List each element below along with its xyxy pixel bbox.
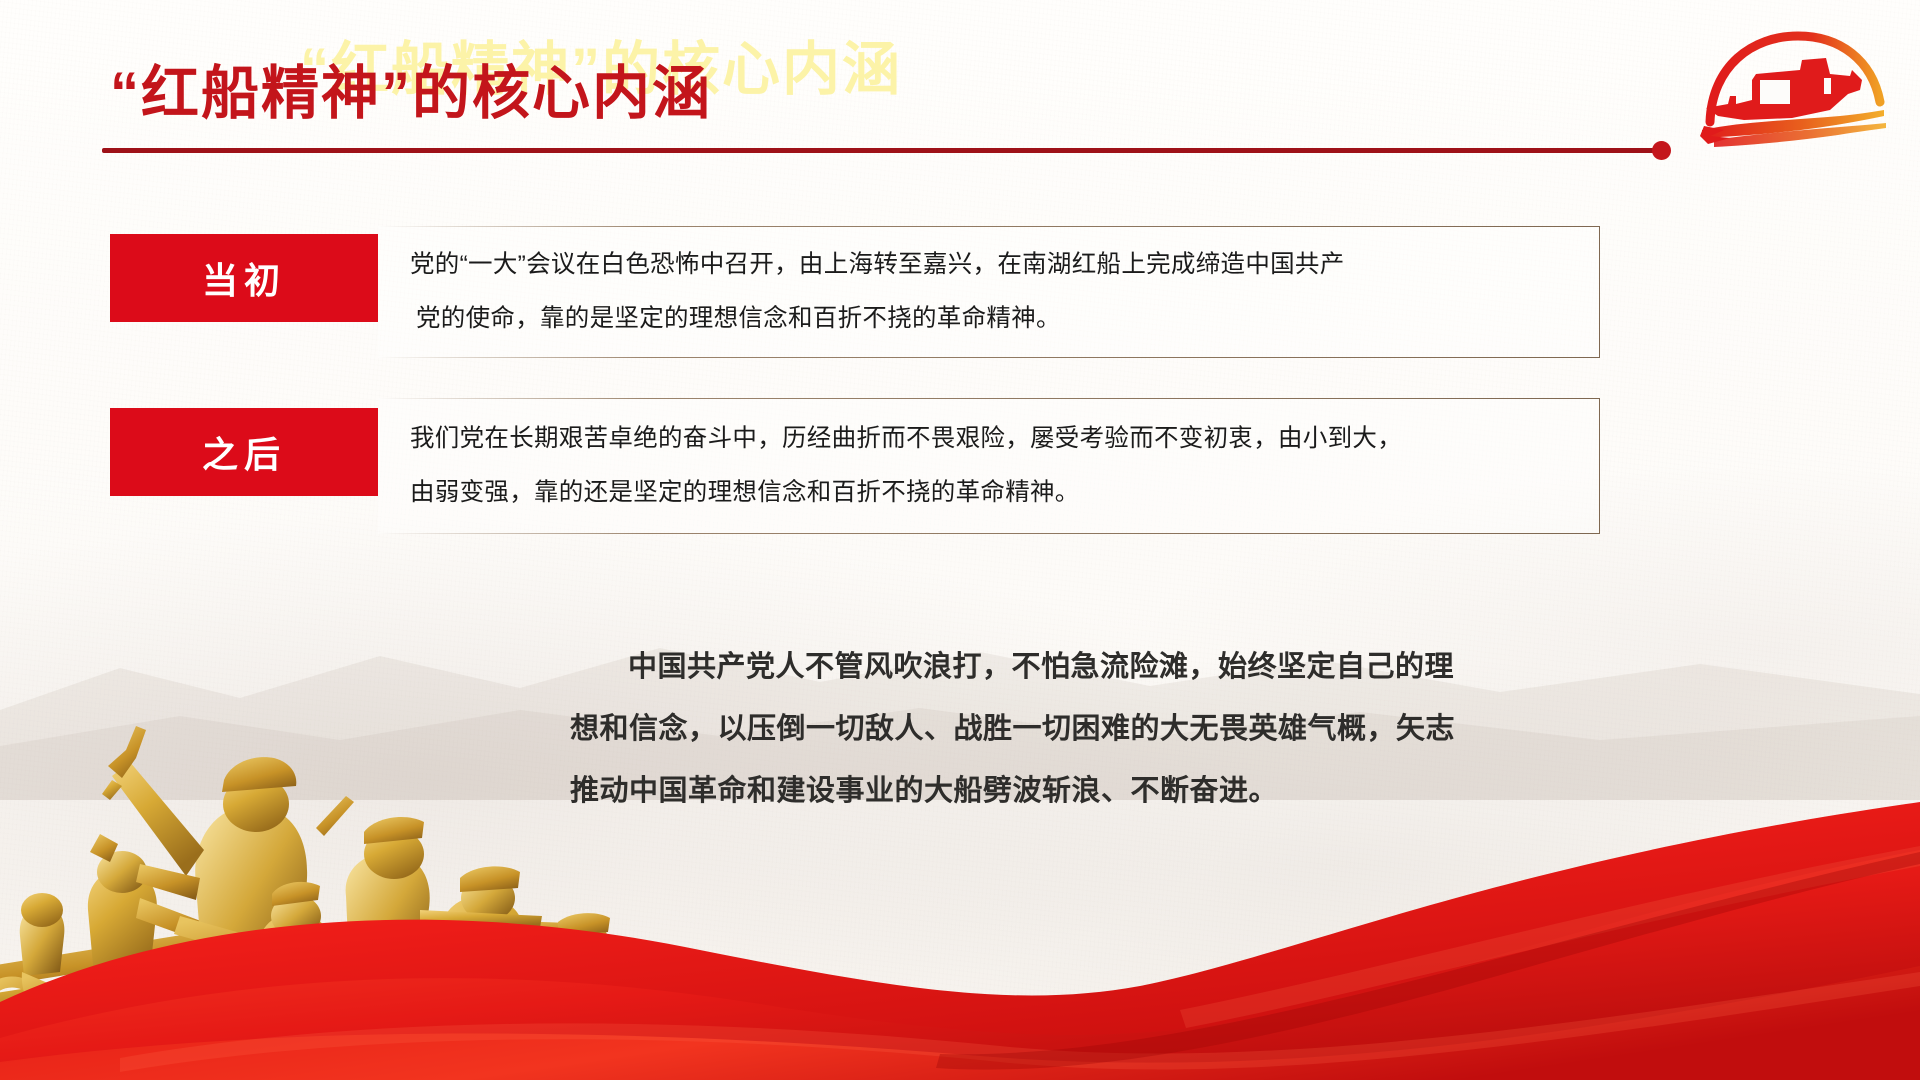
hero-paragraph: 中国共产党人不管风吹浪打，不怕急流险滩，始终坚定自己的理 想和信念，以压倒一切敌…: [570, 636, 1570, 822]
row-body-text: 党的“一大”会议在白色恐怖中召开，由上海转至嘉兴，在南湖红船上完成缔造中国共产 …: [410, 238, 1610, 346]
red-boat-logo-icon: [1700, 30, 1890, 150]
row-tag-label: 之后: [202, 426, 286, 478]
row-text-line: 党的使命，靠的是坚定的理想信念和百折不挠的革命精神。: [410, 292, 1610, 346]
title-divider-line: [102, 148, 1662, 153]
title-divider-dot: [1652, 141, 1671, 160]
content-row-second: 之后 我们党在长期艰苦卓绝的奋斗中，历经曲折而不畏艰险，屡受考验而不变初衷，由小…: [110, 398, 1600, 534]
row-text-line: 我们党在长期艰苦卓绝的奋斗中，历经曲折而不畏艰险，屡受考验而不变初衷，由小到大，: [410, 412, 1610, 466]
slide-header: “红船精神”的核心内涵 “红船精神”的核心内涵: [0, 0, 1920, 170]
row-tag-dangchu: 当初: [110, 234, 378, 322]
hero-paragraph-line: 中国共产党人不管风吹浪打，不怕急流险滩，始终坚定自己的理: [570, 636, 1570, 698]
hero-paragraph-line: 推动中国革命和建设事业的大船劈波斩浪、不断奋进。: [570, 760, 1570, 822]
row-text-line: 由弱变强，靠的还是坚定的理想信念和百折不挠的革命精神。: [410, 466, 1610, 520]
row-tag-label: 当初: [202, 252, 286, 304]
row-tag-zhihou: 之后: [110, 408, 378, 496]
row-text-line: 党的“一大”会议在白色恐怖中召开，由上海转至嘉兴，在南湖红船上完成缔造中国共产: [410, 238, 1610, 292]
slide-canvas: “红船精神”的核心内涵 “红船精神”的核心内涵: [0, 0, 1920, 1080]
page-title: “红船精神”的核心内涵: [110, 46, 712, 130]
hero-paragraph-line: 想和信念，以压倒一切敌人、战胜一切困难的大无畏英雄气概，矢志: [570, 698, 1570, 760]
row-body-text: 我们党在长期艰苦卓绝的奋斗中，历经曲折而不畏艰险，屡受考验而不变初衷，由小到大，…: [410, 412, 1610, 520]
golden-soldiers-sculpture-image: [0, 580, 650, 1080]
content-row-first: 当初 党的“一大”会议在白色恐怖中召开，由上海转至嘉兴，在南湖红船上完成缔造中国…: [110, 226, 1600, 358]
